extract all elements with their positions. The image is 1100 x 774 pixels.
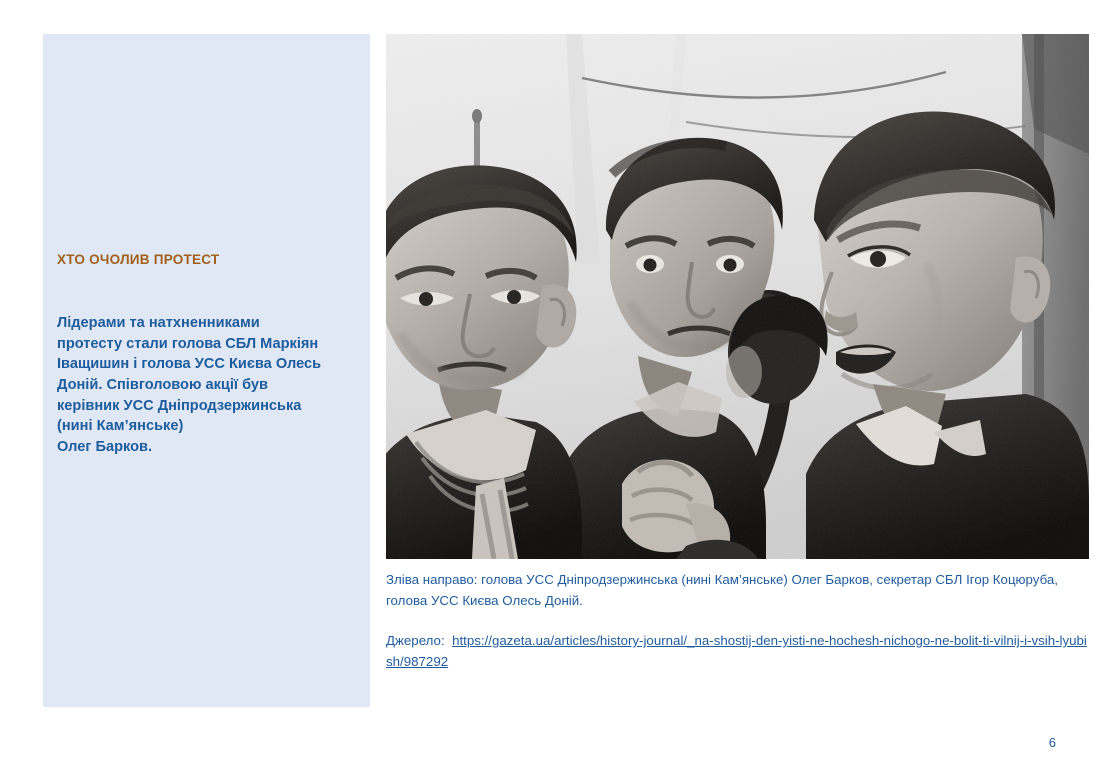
panel-body-line: Олег Барков. xyxy=(57,437,353,458)
photo-figure xyxy=(386,34,1089,559)
side-panel-content: ХТО ОЧОЛИВ ПРОТЕСТ Лідерами та натхненни… xyxy=(57,252,360,458)
protest-photo xyxy=(386,34,1089,559)
source-line: Джерело: https://gazeta.ua/articles/hist… xyxy=(386,631,1090,672)
panel-body-line: Лідерами та натхненниками xyxy=(57,313,353,334)
panel-body-line: керівник УСС Дніпродзержинська xyxy=(57,396,353,417)
photo-caption: Зліва направо: голова УСС Дніпродзержинс… xyxy=(386,570,1090,611)
panel-body-line: Іващишин і голова УСС Києва Олесь xyxy=(57,354,353,375)
source-label: Джерело: xyxy=(386,633,445,648)
panel-body-line: Доній. Співголовою акції був xyxy=(57,375,353,396)
side-panel: ХТО ОЧОЛИВ ПРОТЕСТ Лідерами та натхненни… xyxy=(43,34,370,707)
panel-body-text: Лідерами та натхненниками протесту стали… xyxy=(57,313,353,458)
caption-block: Зліва направо: голова УСС Дніпродзержинс… xyxy=(386,570,1090,686)
panel-body-line: протесту стали голова СБЛ Маркіян xyxy=(57,334,353,355)
panel-body-line: (нині Кам’янське) xyxy=(57,416,353,437)
panel-heading: ХТО ОЧОЛИВ ПРОТЕСТ xyxy=(57,252,360,269)
source-link[interactable]: https://gazeta.ua/articles/history-journ… xyxy=(386,633,1087,669)
page-number: 6 xyxy=(1049,735,1056,750)
